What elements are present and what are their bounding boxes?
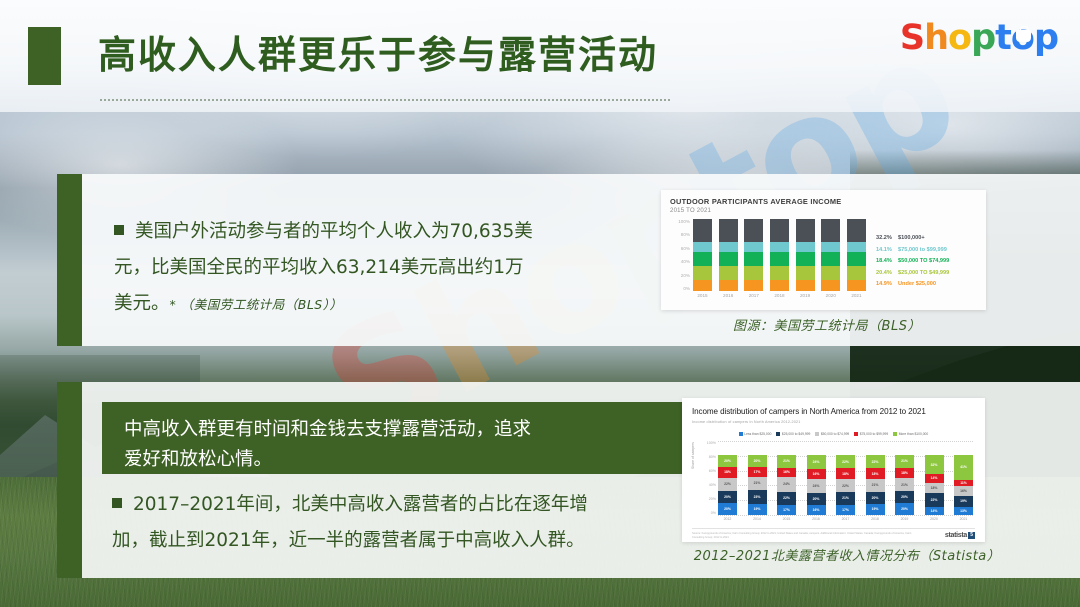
- chart1-bar-segment: [693, 242, 712, 252]
- chart1-legend-pct: 14.9%: [876, 279, 898, 291]
- chart2-legend-label: $50,000 to $74,999: [821, 432, 849, 436]
- chart1-bar: [796, 219, 815, 291]
- chart1-legend-item: 14.1%$75,000 to $99,999: [876, 245, 949, 257]
- chart1-legend-pct: 32.2%: [876, 233, 898, 245]
- logo-letter: S: [900, 18, 924, 58]
- chart1-y-tick: 40%: [681, 259, 690, 264]
- card-bottom-line-1: 2017–2021年间，北美中高收入露营者的占比在逐年增: [133, 494, 588, 515]
- slide-canvas: Shoptop 高收入人群更乐于参与露营活动 Shoptop 美国户外活动参与者…: [0, 0, 1080, 607]
- chart1-legend-pct: 14.1%: [876, 245, 898, 257]
- chart2-bar-segment: 20%: [718, 491, 737, 503]
- chart1-bar-segment: [821, 219, 840, 242]
- logo-letter: o: [948, 18, 971, 58]
- chart2-bar-segment: 20%: [866, 492, 885, 504]
- chart1-bar: [847, 219, 866, 291]
- statista-wordmark: statista: [945, 532, 967, 539]
- chart2-bar: 21%16%24%22%17%: [777, 455, 796, 515]
- card-bottom-line-2: 加，截止到2021年，近一半的露营者属于中高收入人群。: [112, 530, 585, 551]
- chart1-x-tick: 2015: [693, 293, 712, 298]
- shoptop-logo[interactable]: Shoptop: [900, 18, 1058, 58]
- chart1-bar: [693, 219, 712, 291]
- chart2-y-axis: 100%80%60%40%20%0%: [702, 441, 716, 515]
- chart1-legend-pct: 18.4%: [876, 256, 898, 268]
- chart1-legend-label: $25,000 TO $49,999: [898, 268, 949, 280]
- chart2-y-tick: 0%: [711, 511, 716, 515]
- card-accent-bar: [57, 174, 82, 346]
- chart1-bar-segment: [796, 280, 815, 291]
- highlight-green-box: 中高收入群更有时间和金钱去支撑露营活动，追求 爱好和放松心情。: [102, 402, 687, 474]
- chart1-caption: 图源：美国劳工统计局（BLS）: [657, 315, 997, 334]
- chart2-bars: 20%18%22%20%20%20%17%21%23%19%21%16%24%2…: [718, 455, 973, 515]
- chart1-legend-item: 18.4%$50,000 TO $74,999: [876, 256, 949, 268]
- chart2-bar-segment: 21%: [895, 455, 914, 468]
- chart2-footnote: Source: Kampgrounds of America; Cairn Co…: [692, 532, 922, 539]
- chart1-bar-segment: [719, 219, 738, 242]
- chart1-legend-label: Under $25,000: [898, 279, 936, 291]
- chart2-bar-segment: 20%: [718, 455, 737, 467]
- chart1-y-axis: 100%80%60%40%20%0%: [670, 219, 690, 291]
- chart2-bar-segment: 18%: [718, 467, 737, 478]
- chart2-bar: 41%11%16%19%13%: [954, 455, 973, 515]
- card-top-line-1: 美国户外活动参与者的平均个人收入为70,635美: [135, 221, 533, 242]
- chart-income-distribution-campers: Income distribution of campers in North …: [682, 398, 985, 542]
- chart2-subtitle: Income distribution of campers in North …: [692, 420, 975, 424]
- chart2-bar-segment: 24%: [807, 479, 826, 493]
- chart1-title: OUTDOOR PARTICIPANTS AVERAGE INCOME: [670, 197, 977, 206]
- chart1-bar: [821, 219, 840, 291]
- chart2-bar-segment: 21%: [866, 479, 885, 492]
- content-card-bottom: 中高收入群更有时间和金钱去支撑露营活动，追求 爱好和放松心情。 2017–202…: [57, 382, 1080, 578]
- chart2-bar: 20%18%22%20%20%: [718, 455, 737, 515]
- chart1-legend-item: 32.2%$100,000+: [876, 233, 949, 245]
- chart1-subtitle: 2015 TO 2021: [670, 208, 977, 214]
- logo-letter: t: [995, 18, 1011, 58]
- chart2-legend-swatch: [815, 432, 819, 436]
- chart2-bar-segment: 17%: [748, 467, 767, 477]
- chart1-bar-segment: [796, 266, 815, 281]
- chart1-bar-segment: [744, 242, 763, 252]
- green-box-line-2: 爱好和放松心情。: [124, 449, 272, 470]
- chart2-x-axis: 201220142015201620172018201920202021: [718, 517, 973, 521]
- chart1-x-tick: 2018: [770, 293, 789, 298]
- chart2-footer: Source: Kampgrounds of America; Cairn Co…: [692, 528, 975, 539]
- chart1-bar-segment: [796, 219, 815, 242]
- card-top-body-text: 美国户外活动参与者的平均个人收入为70,635美 元，比美国全民的平均收入63,…: [114, 214, 639, 323]
- chart2-gridline: [718, 515, 973, 516]
- chart1-bar-segment: [744, 219, 763, 242]
- chart2-bar-segment: 21%: [748, 477, 767, 490]
- chart2-x-tick: 2017: [836, 517, 855, 521]
- chart1-bar-segment: [719, 252, 738, 265]
- card-bottom-body-text: 2017–2021年间，北美中高收入露营者的占比在逐年增 加，截止到2021年，…: [112, 487, 687, 559]
- chart2-bar-segment: 19%: [954, 496, 973, 507]
- chart1-legend-label: $50,000 TO $74,999: [898, 256, 949, 268]
- chart2-bar-segment: 24%: [777, 477, 796, 491]
- chart2-x-tick: 2019: [895, 517, 914, 521]
- chart1-bar-segment: [744, 252, 763, 265]
- chart1-bar-segment: [847, 280, 866, 291]
- chart1-bar-segment: [847, 219, 866, 242]
- chart2-bar-segment: 14%: [925, 474, 944, 482]
- card-top-source-note: * （美国劳工统计局（BLS））: [170, 297, 343, 312]
- chart1-y-tick: 60%: [681, 246, 690, 251]
- chart1-x-tick: 2017: [744, 293, 763, 298]
- chart2-bar-segment: 22%: [925, 493, 944, 506]
- chart2-bar-segment: 13%: [954, 507, 973, 515]
- chart2-bar-segment: 22%: [836, 479, 855, 492]
- slide-header: 高收入人群更乐于参与露营活动 Shoptop: [0, 0, 1080, 112]
- chart1-x-tick: 2016: [719, 293, 738, 298]
- chart2-bar-segment: 20%: [895, 491, 914, 503]
- chart1-bar-segment: [796, 242, 815, 252]
- chart1-bar-segment: [770, 280, 789, 291]
- chart2-y-tick: 20%: [709, 497, 716, 501]
- chart2-bar-segment: 23%: [748, 490, 767, 504]
- chart2-x-tick: 2012: [718, 517, 737, 521]
- logo-letter: p: [971, 18, 995, 58]
- chart1-bar-segment: [821, 242, 840, 252]
- chart1-legend: 32.2%$100,000+14.1%$75,000 to $99,99918.…: [876, 219, 949, 303]
- chart1-plot-area: 100%80%60%40%20%0% 201520162017201820192…: [670, 219, 866, 303]
- chart1-bar-segment: [693, 219, 712, 242]
- chart2-legend-item: $25,000 to $49,999: [776, 432, 810, 436]
- chart2-bar-segment: 16%: [954, 486, 973, 496]
- chart2-x-tick: 2018: [866, 517, 885, 521]
- chart2-bar: 20%17%21%23%19%: [748, 455, 767, 515]
- chart2-bar-segment: 18%: [866, 468, 885, 479]
- chart2-bar-segment: 18%: [925, 483, 944, 494]
- chart2-bar-segment: 11%: [954, 480, 973, 487]
- chart2-bar-segment: 20%: [718, 503, 737, 515]
- chart1-bar-segment: [693, 252, 712, 265]
- chart2-bar-segment: 16%: [807, 505, 826, 515]
- chart2-bar-segment: 17%: [836, 505, 855, 515]
- chart2-legend-label: More than $100,000: [899, 432, 929, 436]
- chart1-bar-segment: [847, 252, 866, 265]
- chart1-bar-segment: [821, 280, 840, 291]
- chart2-bar-segment: 19%: [866, 504, 885, 515]
- card-top-line-3: 美元。: [114, 293, 170, 314]
- chart2-bar-segment: 18%: [895, 468, 914, 479]
- chart1-bar: [744, 219, 763, 291]
- chart2-bar-segment: 22%: [777, 492, 796, 505]
- chart2-bar-segment: 18%: [836, 468, 855, 479]
- chart2-x-tick: 2014: [748, 517, 767, 521]
- chart2-legend-swatch: [739, 432, 743, 436]
- chart2-bar-segment: 17%: [777, 505, 796, 515]
- chart2-bar-segment: 21%: [777, 455, 796, 468]
- green-box-text: 中高收入群更有时间和金钱去支撑露营活动，追求 爱好和放松心情。: [124, 415, 687, 475]
- chart1-bar-segment: [719, 280, 738, 291]
- chart2-bar-segment: 20%: [807, 493, 826, 505]
- chart1-bar-segment: [744, 266, 763, 281]
- chart1-bar-segment: [796, 252, 815, 265]
- shopping-bag-icon: [1016, 30, 1031, 42]
- chart1-legend-item: 20.4%$25,000 TO $49,999: [876, 268, 949, 280]
- chart2-bar-segment: 22%: [866, 455, 885, 468]
- chart2-legend-label: $75,000 to $99,999: [860, 432, 888, 436]
- chart1-bar-segment: [770, 252, 789, 265]
- card-accent-bar: [57, 382, 82, 578]
- chart1-legend-label: $75,000 to $99,999: [898, 245, 947, 257]
- chart2-bar: 24%16%24%20%16%: [807, 455, 826, 515]
- chart1-bar: [770, 219, 789, 291]
- content-card-top: 美国户外活动参与者的平均个人收入为70,635美 元，比美国全民的平均收入63,…: [57, 174, 1080, 346]
- chart1-x-tick: 2021: [847, 293, 866, 298]
- chart1-bar-segment: [693, 266, 712, 281]
- chart2-bar-segment: 32%: [925, 455, 944, 474]
- chart2-legend-item: $50,000 to $74,999: [815, 432, 849, 436]
- chart2-bar-segment: 16%: [807, 469, 826, 479]
- chart1-y-tick: 0%: [683, 286, 690, 291]
- chart2-bar-segment: 21%: [836, 492, 855, 505]
- chart2-bar: 22%18%21%20%19%: [866, 455, 885, 515]
- chart2-x-tick: 2015: [777, 517, 796, 521]
- chart1-bar-segment: [693, 280, 712, 291]
- chart2-bar-segment: 22%: [836, 455, 855, 468]
- green-box-line-1: 中高收入群更有时间和金钱去支撑露营活动，追求: [124, 419, 531, 440]
- title-divider: [100, 99, 670, 101]
- chart2-x-tick: 2021: [954, 517, 973, 521]
- logo-letter: h: [924, 18, 948, 58]
- chart1-legend-label: $100,000+: [898, 233, 925, 245]
- chart1-bar-segment: [821, 266, 840, 281]
- chart2-legend-swatch: [854, 432, 858, 436]
- chart2-y-tick: 40%: [709, 483, 716, 487]
- chart2-plot-area: Share of campers 100%80%60%40%20%0% 20%1…: [692, 441, 975, 529]
- chart2-legend-item: More than $100,000: [893, 432, 928, 436]
- chart2-x-tick: 2020: [925, 517, 944, 521]
- chart2-y-tick: 80%: [709, 455, 716, 459]
- chart2-gridline: [718, 441, 973, 442]
- chart1-bar-segment: [770, 242, 789, 252]
- chart1-x-axis: 2015201620172018201920202021: [693, 293, 866, 298]
- chart2-legend: Less than $25,000$25,000 to $49,999$50,0…: [692, 432, 975, 436]
- chart2-caption: 2012–2021北美露营者收入情况分布（Statista）: [642, 545, 1052, 564]
- chart1-x-tick: 2020: [821, 293, 840, 298]
- logo-letter-with-bag: o: [1011, 18, 1034, 58]
- chart1-bar: [719, 219, 738, 291]
- chart1-legend-item: 14.9%Under $25,000: [876, 279, 949, 291]
- chart1-body: 100%80%60%40%20%0% 201520162017201820192…: [670, 219, 977, 303]
- bullet-marker-icon: [112, 498, 122, 508]
- chart2-bar: 32%14%18%22%14%: [925, 455, 944, 515]
- chart2-legend-item: $75,000 to $99,999: [854, 432, 888, 436]
- chart-outdoor-participants-income: OUTDOOR PARTICIPANTS AVERAGE INCOME 2015…: [661, 190, 986, 310]
- chart2-bar-segment: 41%: [954, 455, 973, 480]
- chart2-legend-swatch: [776, 432, 780, 436]
- chart2-bar-segment: 16%: [777, 468, 796, 478]
- chart1-bar-segment: [847, 242, 866, 252]
- chart1-bar-segment: [847, 266, 866, 281]
- logo-letter: p: [1034, 18, 1058, 58]
- chart2-y-axis-label: Share of campers: [691, 442, 695, 469]
- statista-mark-icon: 5: [968, 532, 975, 539]
- chart1-y-tick: 80%: [681, 232, 690, 237]
- chart2-bar-segment: 19%: [748, 504, 767, 515]
- chart1-x-tick: 2019: [796, 293, 815, 298]
- title-accent-marker: [28, 27, 61, 85]
- chart1-bar-segment: [770, 266, 789, 281]
- chart1-bar-segment: [821, 252, 840, 265]
- chart1-bar-segment: [744, 280, 763, 291]
- bullet-marker-icon: [114, 225, 124, 235]
- statista-brand-logo: statista5: [945, 532, 975, 539]
- chart1-bar-segment: [719, 242, 738, 252]
- chart1-bars: [693, 219, 866, 291]
- chart2-bar-segment: 24%: [807, 455, 826, 469]
- chart1-bar-segment: [770, 219, 789, 242]
- chart1-y-tick: 20%: [681, 273, 690, 278]
- chart2-title: Income distribution of campers in North …: [692, 407, 975, 416]
- chart2-y-tick: 60%: [709, 469, 716, 473]
- chart1-y-tick: 100%: [678, 219, 690, 224]
- chart2-bar-segment: 21%: [895, 478, 914, 491]
- chart2-x-tick: 2016: [807, 517, 826, 521]
- chart2-bar-segment: 20%: [895, 503, 914, 515]
- chart2-bar: 22%18%22%21%17%: [836, 455, 855, 515]
- chart2-bar-segment: 14%: [925, 507, 944, 515]
- page-title: 高收入人群更乐于参与露营活动: [98, 24, 658, 79]
- chart2-legend-item: Less than $25,000: [739, 432, 772, 436]
- chart2-bar: 21%18%21%20%20%: [895, 455, 914, 515]
- chart1-bar-segment: [719, 266, 738, 281]
- chart2-legend-label: Less than $25,000: [744, 432, 771, 436]
- chart2-bar-segment: 20%: [748, 455, 767, 467]
- card-top-line-2: 元，比美国全民的平均收入63,214美元高出约1万: [114, 257, 524, 278]
- chart2-y-tick: 100%: [707, 441, 716, 445]
- chart2-bar-segment: 22%: [718, 478, 737, 491]
- chart2-legend-label: $25,000 to $49,999: [782, 432, 810, 436]
- chart2-legend-swatch: [893, 432, 897, 436]
- chart1-legend-pct: 20.4%: [876, 268, 898, 280]
